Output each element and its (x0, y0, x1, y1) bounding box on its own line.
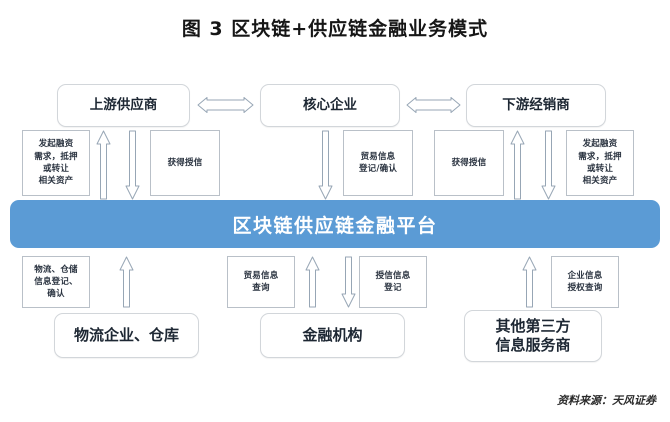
note-text: 贸易信息登记/确认 (359, 151, 397, 176)
entity-third-party-info-provider[interactable]: 其他第三方信息服务商 (464, 310, 602, 362)
connector-upstream-to-core (197, 97, 254, 113)
note-text: 物流、仓储信息登记、确认 (34, 264, 78, 301)
connector-thirdparty-up (522, 256, 537, 308)
note-logistics-info: 物流、仓储信息登记、确认 (22, 256, 90, 308)
entity-downstream-dealer[interactable]: 下游经销商 (466, 84, 606, 127)
note-core-trade-info: 贸易信息登记/确认 (343, 130, 413, 196)
connector-core-down (318, 130, 333, 200)
entity-label: 金融机构 (302, 326, 362, 345)
note-text: 发起融资需求，抵押或转让相关资产 (578, 138, 622, 187)
connector-downstream-up (510, 130, 525, 200)
connector-core-to-downstream (406, 97, 461, 113)
entity-label: 下游经销商 (502, 97, 570, 114)
entity-logistics-warehouse[interactable]: 物流企业、仓库 (54, 313, 199, 358)
note-upstream-credit: 获得授信 (150, 130, 220, 196)
note-upstream-financing: 发起融资需求，抵押或转让相关资产 (22, 130, 90, 196)
connector-upstream-up (96, 130, 111, 200)
blockchain-platform-bar[interactable]: 区块链供应链金融平台 (10, 200, 660, 248)
source-note: 资料来源：天风证券 (557, 392, 656, 408)
connector-downstream-down (541, 130, 556, 200)
note-text: 获得授信 (168, 157, 203, 169)
connector-upstream-down (125, 130, 140, 200)
note-trade-info-query: 贸易信息查询 (227, 256, 295, 308)
note-text: 获得授信 (452, 157, 487, 169)
note-downstream-financing: 发起融资需求，抵押或转让相关资产 (566, 130, 634, 196)
entity-financial-institution[interactable]: 金融机构 (260, 313, 405, 358)
figure-title: 图 3 区块链+供应链金融业务模式 (0, 14, 670, 41)
entity-label: 核心企业 (303, 97, 357, 114)
platform-label: 区块链供应链金融平台 (232, 211, 437, 238)
entity-label: 上游供应商 (90, 97, 158, 114)
note-text: 企业信息授权查询 (568, 270, 603, 295)
note-credit-info-register: 授信信息登记 (359, 256, 427, 308)
connector-logistics-up (119, 256, 134, 308)
entity-label: 物流企业、仓库 (74, 326, 179, 345)
connector-finance-down (341, 256, 356, 308)
note-text: 授信信息登记 (376, 270, 411, 295)
note-downstream-credit: 获得授信 (434, 130, 504, 196)
note-text: 贸易信息查询 (244, 270, 279, 295)
connector-finance-up (305, 256, 320, 308)
note-enterprise-info-auth: 企业信息授权查询 (551, 256, 619, 308)
entity-upstream-supplier[interactable]: 上游供应商 (57, 84, 190, 127)
note-text: 发起融资需求，抵押或转让相关资产 (34, 138, 78, 187)
entity-label: 其他第三方信息服务商 (495, 317, 570, 355)
entity-core-enterprise[interactable]: 核心企业 (260, 84, 400, 127)
diagram-canvas: 图 3 区块链+供应链金融业务模式 上游供应商 核心企业 下游经销商 (0, 0, 670, 422)
